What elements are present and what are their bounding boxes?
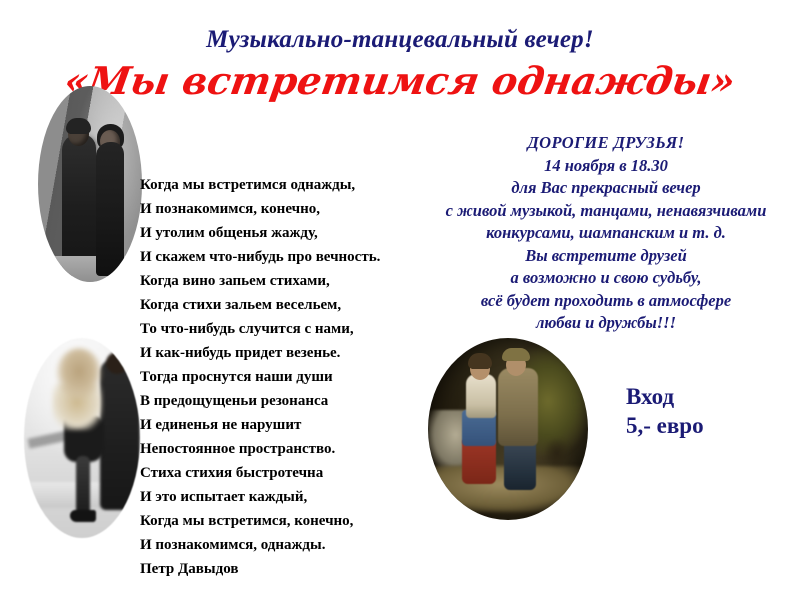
- painting-woman-blouse: [466, 374, 496, 418]
- photo-dancer-man-head: [106, 352, 128, 374]
- painting-dog: [544, 438, 570, 468]
- invitation-line: конкурсами, шампанским и т. д.: [412, 222, 800, 245]
- poster-subtitle: «Мы встретимся однажды»: [0, 58, 800, 103]
- entry-price-value: 5,- евро: [626, 411, 704, 440]
- poem-line: В предощущеньи резонанса: [140, 389, 412, 413]
- dancing-couple-motion-blur-photo: [24, 338, 140, 538]
- invitation-line: всё будет проходить в атмосфере: [412, 290, 800, 313]
- oval-classical-painting-peasant-couple: [428, 338, 588, 520]
- photo-dancer-man: [100, 360, 140, 510]
- poem-line: Непостоянное пространство.: [140, 437, 412, 461]
- poem-line: И единенья не нарушит: [140, 413, 412, 437]
- poem-line: Стиха стихия быстротечна: [140, 461, 412, 485]
- entry-price-block: Вход 5,- евро: [626, 382, 704, 440]
- poem-line: И скажем что-нибудь про вечность.: [140, 245, 412, 269]
- poem-line: И познакомимся, конечно,: [140, 197, 412, 221]
- photo-dancer-woman-hair: [56, 348, 102, 400]
- photo-woman-head: [100, 130, 120, 153]
- invitation-line: любви и дружбы!!!: [412, 312, 800, 335]
- poem-line: И утолим общенья жажду,: [140, 221, 412, 245]
- entry-label: Вход: [626, 382, 704, 411]
- poem-line: И это испытает каждый,: [140, 485, 412, 509]
- poem-line: Когда мы встретимся, конечно,: [140, 509, 412, 533]
- invitation-line: 14 ноября в 18.30: [412, 155, 800, 178]
- photo-floor: [38, 256, 142, 282]
- poem-line: Когда мы встретимся однажды,: [140, 173, 412, 197]
- poem-line: И познакомимся, однажды.: [140, 533, 412, 557]
- invitation-line: а возможно и свою судьбу,: [412, 267, 800, 290]
- poem-line: И как-нибудь придет везенье.: [140, 341, 412, 365]
- painting-man-hat: [502, 348, 530, 361]
- invitation-line: для Вас прекрасный вечер: [412, 177, 800, 200]
- invitation-line: ДОРОГИЕ ДРУЗЬЯ!: [412, 132, 800, 155]
- photo-dancer-woman-legs: [76, 456, 90, 518]
- poem-line: То что-нибудь случится с нами,: [140, 317, 412, 341]
- photo-dancer-shoe: [70, 510, 96, 522]
- invitation-line: с живой музыкой, танцами, ненавязчивами: [412, 200, 800, 223]
- poem-block: Когда мы встретимся однажды, И познакоми…: [140, 173, 412, 581]
- poem-line: Тогда проснутся наши души: [140, 365, 412, 389]
- poem-line: Когда вино запьем стихами,: [140, 269, 412, 293]
- photo-man-hair: [66, 118, 91, 134]
- poem-line: Когда стихи зальем весельем,: [140, 293, 412, 317]
- invitation-line: Вы встретите друзей: [412, 245, 800, 268]
- page-title: Музыкально-танцевальный вечер!: [0, 26, 800, 54]
- invitation-block: ДОРОГИЕ ДРУЗЬЯ! 14 ноября в 18.30 для Ва…: [412, 132, 800, 335]
- couple-black-white-photo: [38, 86, 142, 282]
- painting-man-coat: [498, 368, 538, 446]
- painting-woman-hair: [468, 353, 492, 369]
- poem-author: Петр Давыдов: [140, 557, 412, 581]
